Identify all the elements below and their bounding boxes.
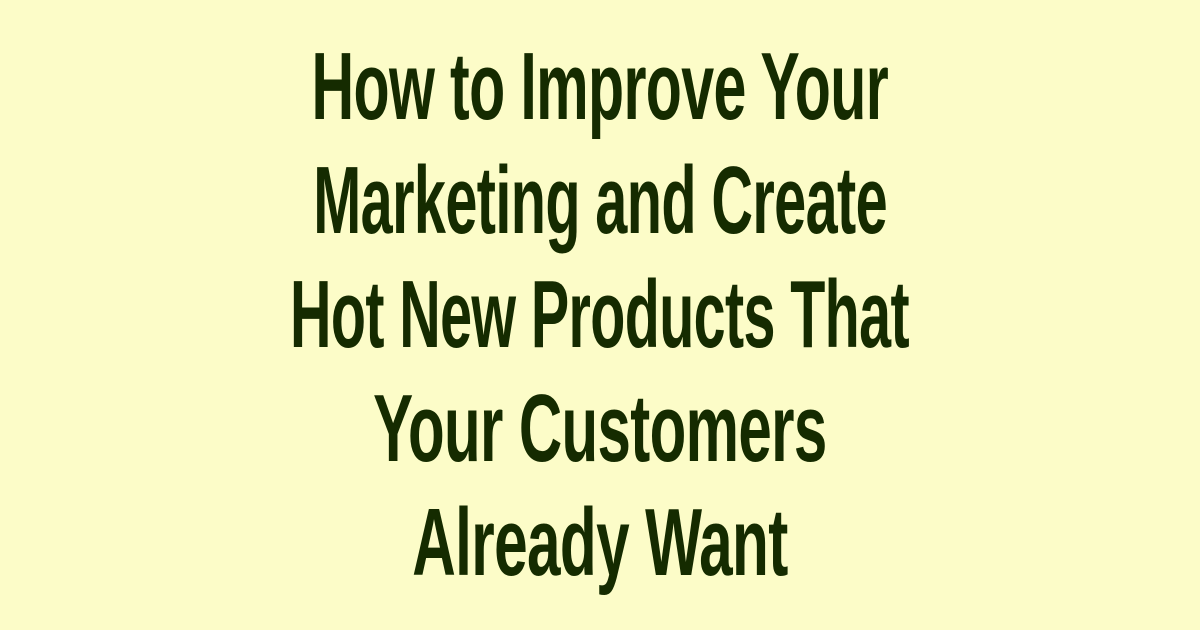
- headline-line-4: Your Customers: [373, 372, 827, 486]
- headline-line-1: How to Improve Your: [312, 30, 889, 144]
- title-card: How to Improve Your Marketing and Create…: [0, 0, 1200, 630]
- headline-line-5: Already Want: [412, 486, 787, 600]
- headline-line-3: Hot New Products That: [291, 258, 910, 372]
- headline-line-2: Marketing and Create: [313, 144, 887, 258]
- page-title: How to Improve Your Marketing and Create…: [30, 30, 1170, 600]
